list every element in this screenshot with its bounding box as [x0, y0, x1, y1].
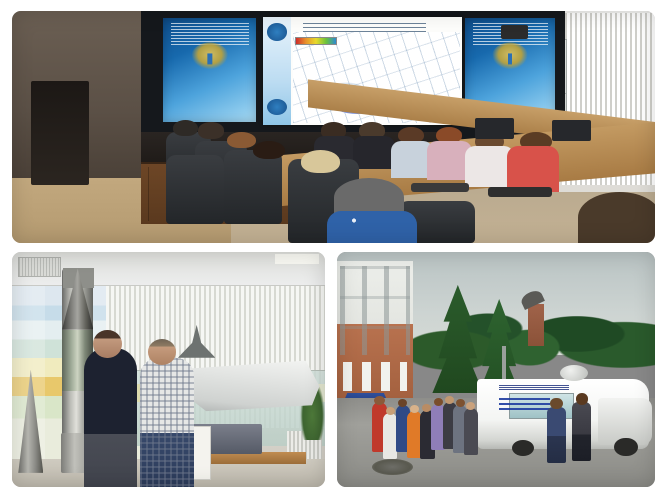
van-front-wheel: [614, 438, 638, 457]
visitor-head: [93, 330, 121, 358]
russian-eagle-emblem-icon: [191, 42, 228, 69]
visitor-head: [434, 398, 443, 406]
visitor-at-van-door: [547, 407, 566, 463]
visitor-group: [372, 398, 486, 473]
conference-hall-scene: [12, 11, 655, 243]
photo-conference-hall[interactable]: [12, 11, 655, 243]
attendee: [253, 141, 285, 160]
ceiling-lamp: [275, 254, 319, 263]
van-organisation-text: [499, 385, 569, 391]
photo-rocket-uav-exhibit[interactable]: [12, 252, 325, 487]
slide-logo-bottom-icon: [267, 99, 287, 115]
office-chair: [166, 155, 224, 225]
visitor: [464, 408, 479, 455]
brick-tower: [528, 304, 544, 346]
attendee: [507, 146, 558, 192]
monitor: [552, 120, 591, 141]
map-colour-legend: [295, 37, 337, 44]
presenter-in-checked-shirt: [140, 358, 193, 487]
attendee: [198, 122, 224, 138]
monitor: [475, 118, 514, 139]
van-main-text: [499, 398, 550, 413]
building-windows: [340, 266, 410, 355]
ceiling-projector-icon: [501, 25, 528, 39]
guide-head: [576, 393, 589, 405]
attendee-foreground-shirt: [327, 211, 417, 243]
photo-mobile-lab-van[interactable]: [337, 252, 655, 487]
attendee: [353, 136, 395, 168]
antenna-mast: [502, 346, 505, 384]
slide-title-text: [303, 23, 427, 33]
slide-logo-top-icon: [267, 23, 287, 40]
van-scene: [337, 252, 655, 487]
russian-eagle-emblem-icon: [492, 42, 528, 69]
attendee: [227, 132, 256, 148]
visitor-in-dark-shirt: [84, 348, 137, 487]
visitor-head: [550, 398, 563, 410]
exhibit-scene: [12, 252, 325, 487]
ceiling-vent-icon: [18, 257, 61, 278]
attendee: [301, 150, 340, 173]
display-panel-left: [163, 18, 256, 122]
guide-at-van-door: [572, 402, 591, 461]
office-chair: [224, 150, 282, 224]
photo-collage: [0, 0, 666, 499]
ground-floor-windows: [343, 362, 407, 390]
microphone: [411, 183, 469, 192]
attendee-foreground-right: [578, 192, 655, 243]
visitor-head: [386, 407, 395, 415]
visitor-head: [374, 396, 384, 405]
presenter-head: [148, 339, 176, 365]
attendee: [173, 120, 199, 136]
doorway: [31, 81, 89, 185]
microphone: [488, 187, 552, 196]
